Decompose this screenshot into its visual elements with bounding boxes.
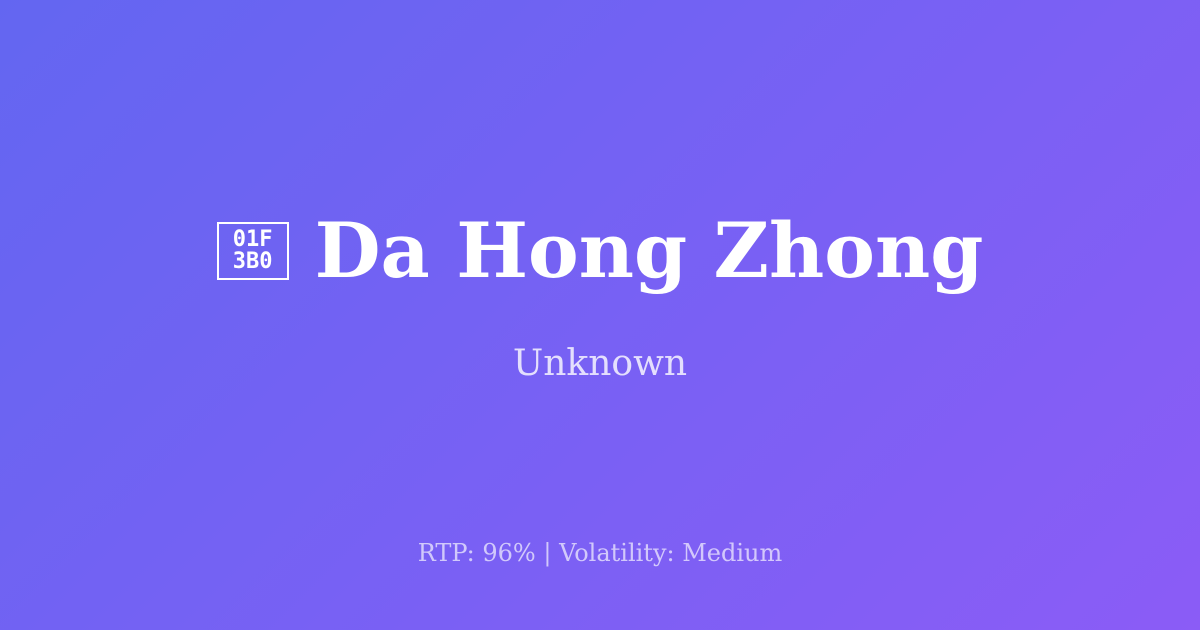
card-meta-footer: RTP: 96% | Volatility: Medium bbox=[0, 539, 1200, 568]
tofu-codepoint-top: 01F bbox=[233, 229, 273, 252]
og-share-card: 01F 3B0 Da Hong Zhong Unknown RTP: 96% |… bbox=[0, 0, 1200, 630]
card-center-stack: 01F 3B0 Da Hong Zhong Unknown bbox=[0, 0, 1200, 630]
tofu-codepoint-bottom: 3B0 bbox=[233, 251, 273, 274]
slot-machine-icon: 01F 3B0 bbox=[217, 222, 289, 280]
page-title: Da Hong Zhong bbox=[315, 210, 984, 292]
title-row: 01F 3B0 Da Hong Zhong bbox=[217, 210, 984, 292]
card-subtitle: Unknown bbox=[513, 342, 687, 385]
